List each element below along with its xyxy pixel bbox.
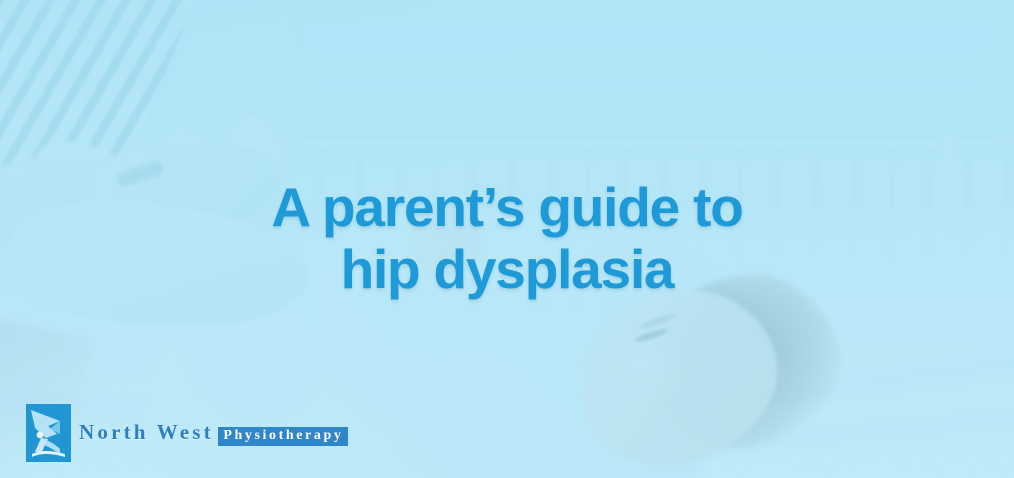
logo[interactable]: North West Physiotherapy: [26, 404, 348, 462]
logo-name-bottom: Physiotherapy: [218, 427, 348, 446]
logo-wordmark: North West Physiotherapy: [79, 421, 348, 446]
logo-name-top: North West: [79, 420, 214, 444]
north-west-physiotherapy-mark-icon: [26, 404, 71, 462]
hero-banner: A parent’s guide to hip dysplasia North …: [0, 0, 1014, 478]
